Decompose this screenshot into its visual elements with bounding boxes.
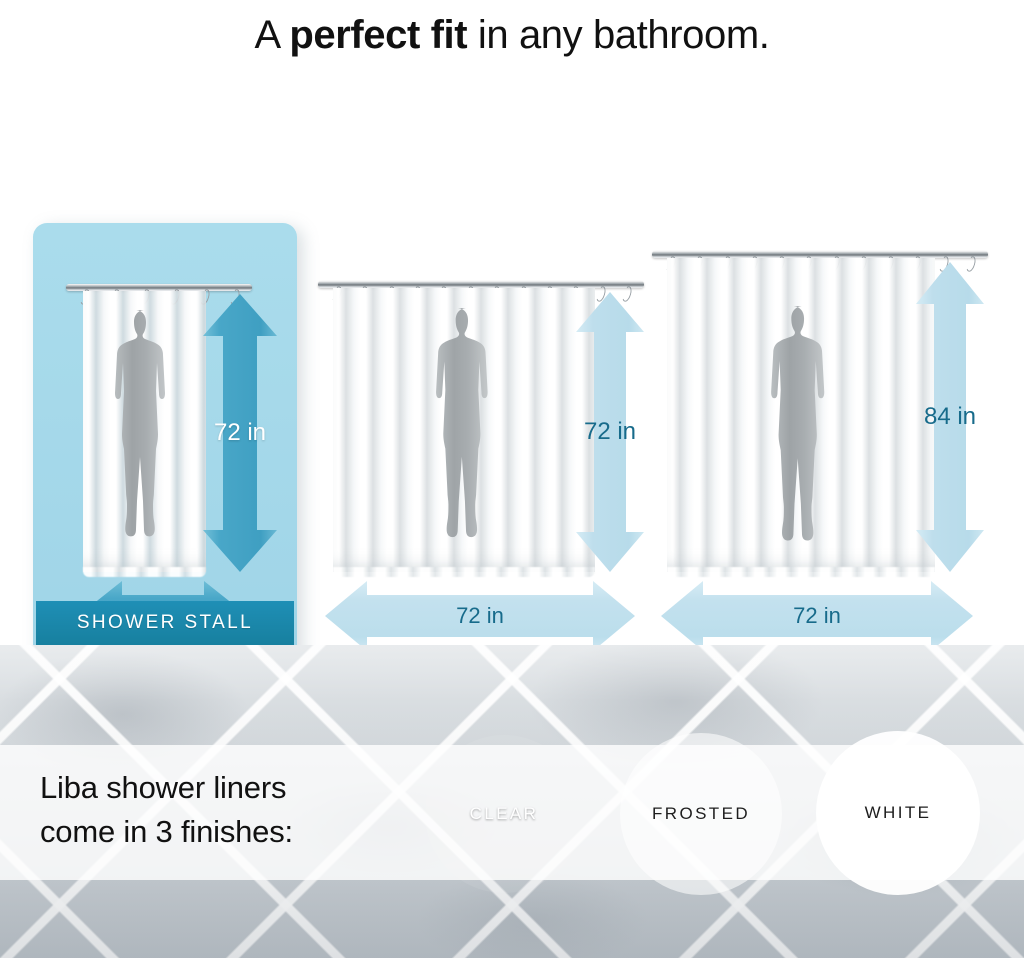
human-silhouette-icon (113, 307, 177, 560)
human-silhouette-icon (434, 305, 500, 561)
height-label-shower-stall: 72 in (214, 419, 266, 447)
finish-swatch-clear[interactable]: CLEAR (425, 735, 583, 893)
finish-label-clear: CLEAR (470, 804, 539, 824)
height-arrow-standard-bathtub: 72 in (576, 292, 644, 572)
height-label-standard-bathtub: 72 in (584, 418, 636, 446)
height-arrow-extra-tall: 84 in (916, 262, 984, 572)
panel-label-shower-stall: SHOWER STALL (36, 601, 294, 645)
width-label-extra-tall: 72 in (793, 603, 841, 629)
width-label-standard-bathtub: 72 in (456, 603, 504, 629)
finishes-heading-line2: come in 3 finishes: (40, 810, 400, 854)
finishes-heading: Liba shower liners come in 3 finishes: (40, 766, 400, 854)
finish-label-frosted: FROSTED (652, 804, 750, 824)
infographic-stage: A perfect fit in any bathroom. (0, 0, 1024, 958)
width-arrow-standard-bathtub: 72 in (325, 581, 635, 651)
height-label-extra-tall: 84 in (924, 403, 976, 431)
finish-label-white: WHITE (865, 803, 932, 823)
width-arrow-extra-tall: 72 in (661, 581, 973, 651)
finish-swatch-white[interactable]: WHITE (816, 731, 980, 895)
page-title: A perfect fit in any bathroom. (0, 8, 1024, 62)
comparison-section: 72 in 36 in (0, 75, 1024, 645)
human-silhouette-icon (769, 303, 837, 565)
finish-swatch-frosted[interactable]: FROSTED (620, 733, 782, 895)
finishes-heading-line1: Liba shower liners (40, 766, 400, 810)
height-arrow-shower-stall: 72 in (203, 294, 277, 572)
headline-bold: perfect fit (289, 13, 467, 57)
headline-tail: in any bathroom. (467, 13, 769, 57)
headline-lead: A (255, 13, 290, 57)
